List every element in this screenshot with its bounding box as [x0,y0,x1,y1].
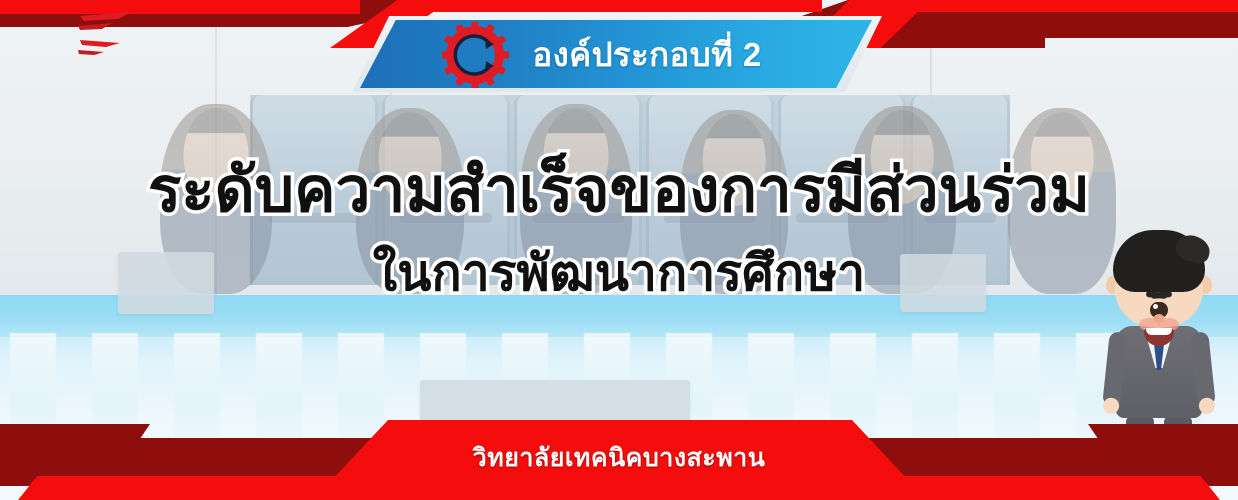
footer-organization-name: วิทยาลัยเทคนิคบางสะพาน [0,438,1238,478]
bottom-bar-bright-red [18,476,1220,500]
top-band-red-middle [432,0,822,12]
headline-line-2: ในการพัฒนาการศึกษา [0,248,1238,298]
headline-block: ระดับความสำเร็จของการมีส่วนร่วม ในการพัฒ… [0,160,1238,298]
header-title: องค์ประกอบที่ 2 [360,20,872,88]
top-band-red-left [0,0,360,14]
mascot-arm [1102,331,1128,406]
mascot-arm [1190,331,1216,406]
flame-streaks-icon [78,10,168,56]
presentation-banner: องค์ประกอบที่ 2 ระดับความสำเร็จของการมีส… [0,0,1238,500]
mascot-hand [1102,397,1120,415]
mascot-nose [1154,314,1165,323]
top-band-red-right [908,0,1238,12]
mascot-hand [1198,397,1216,415]
headline-line-1: ระดับความสำเร็จของการมีส่วนร่วม [0,160,1238,222]
